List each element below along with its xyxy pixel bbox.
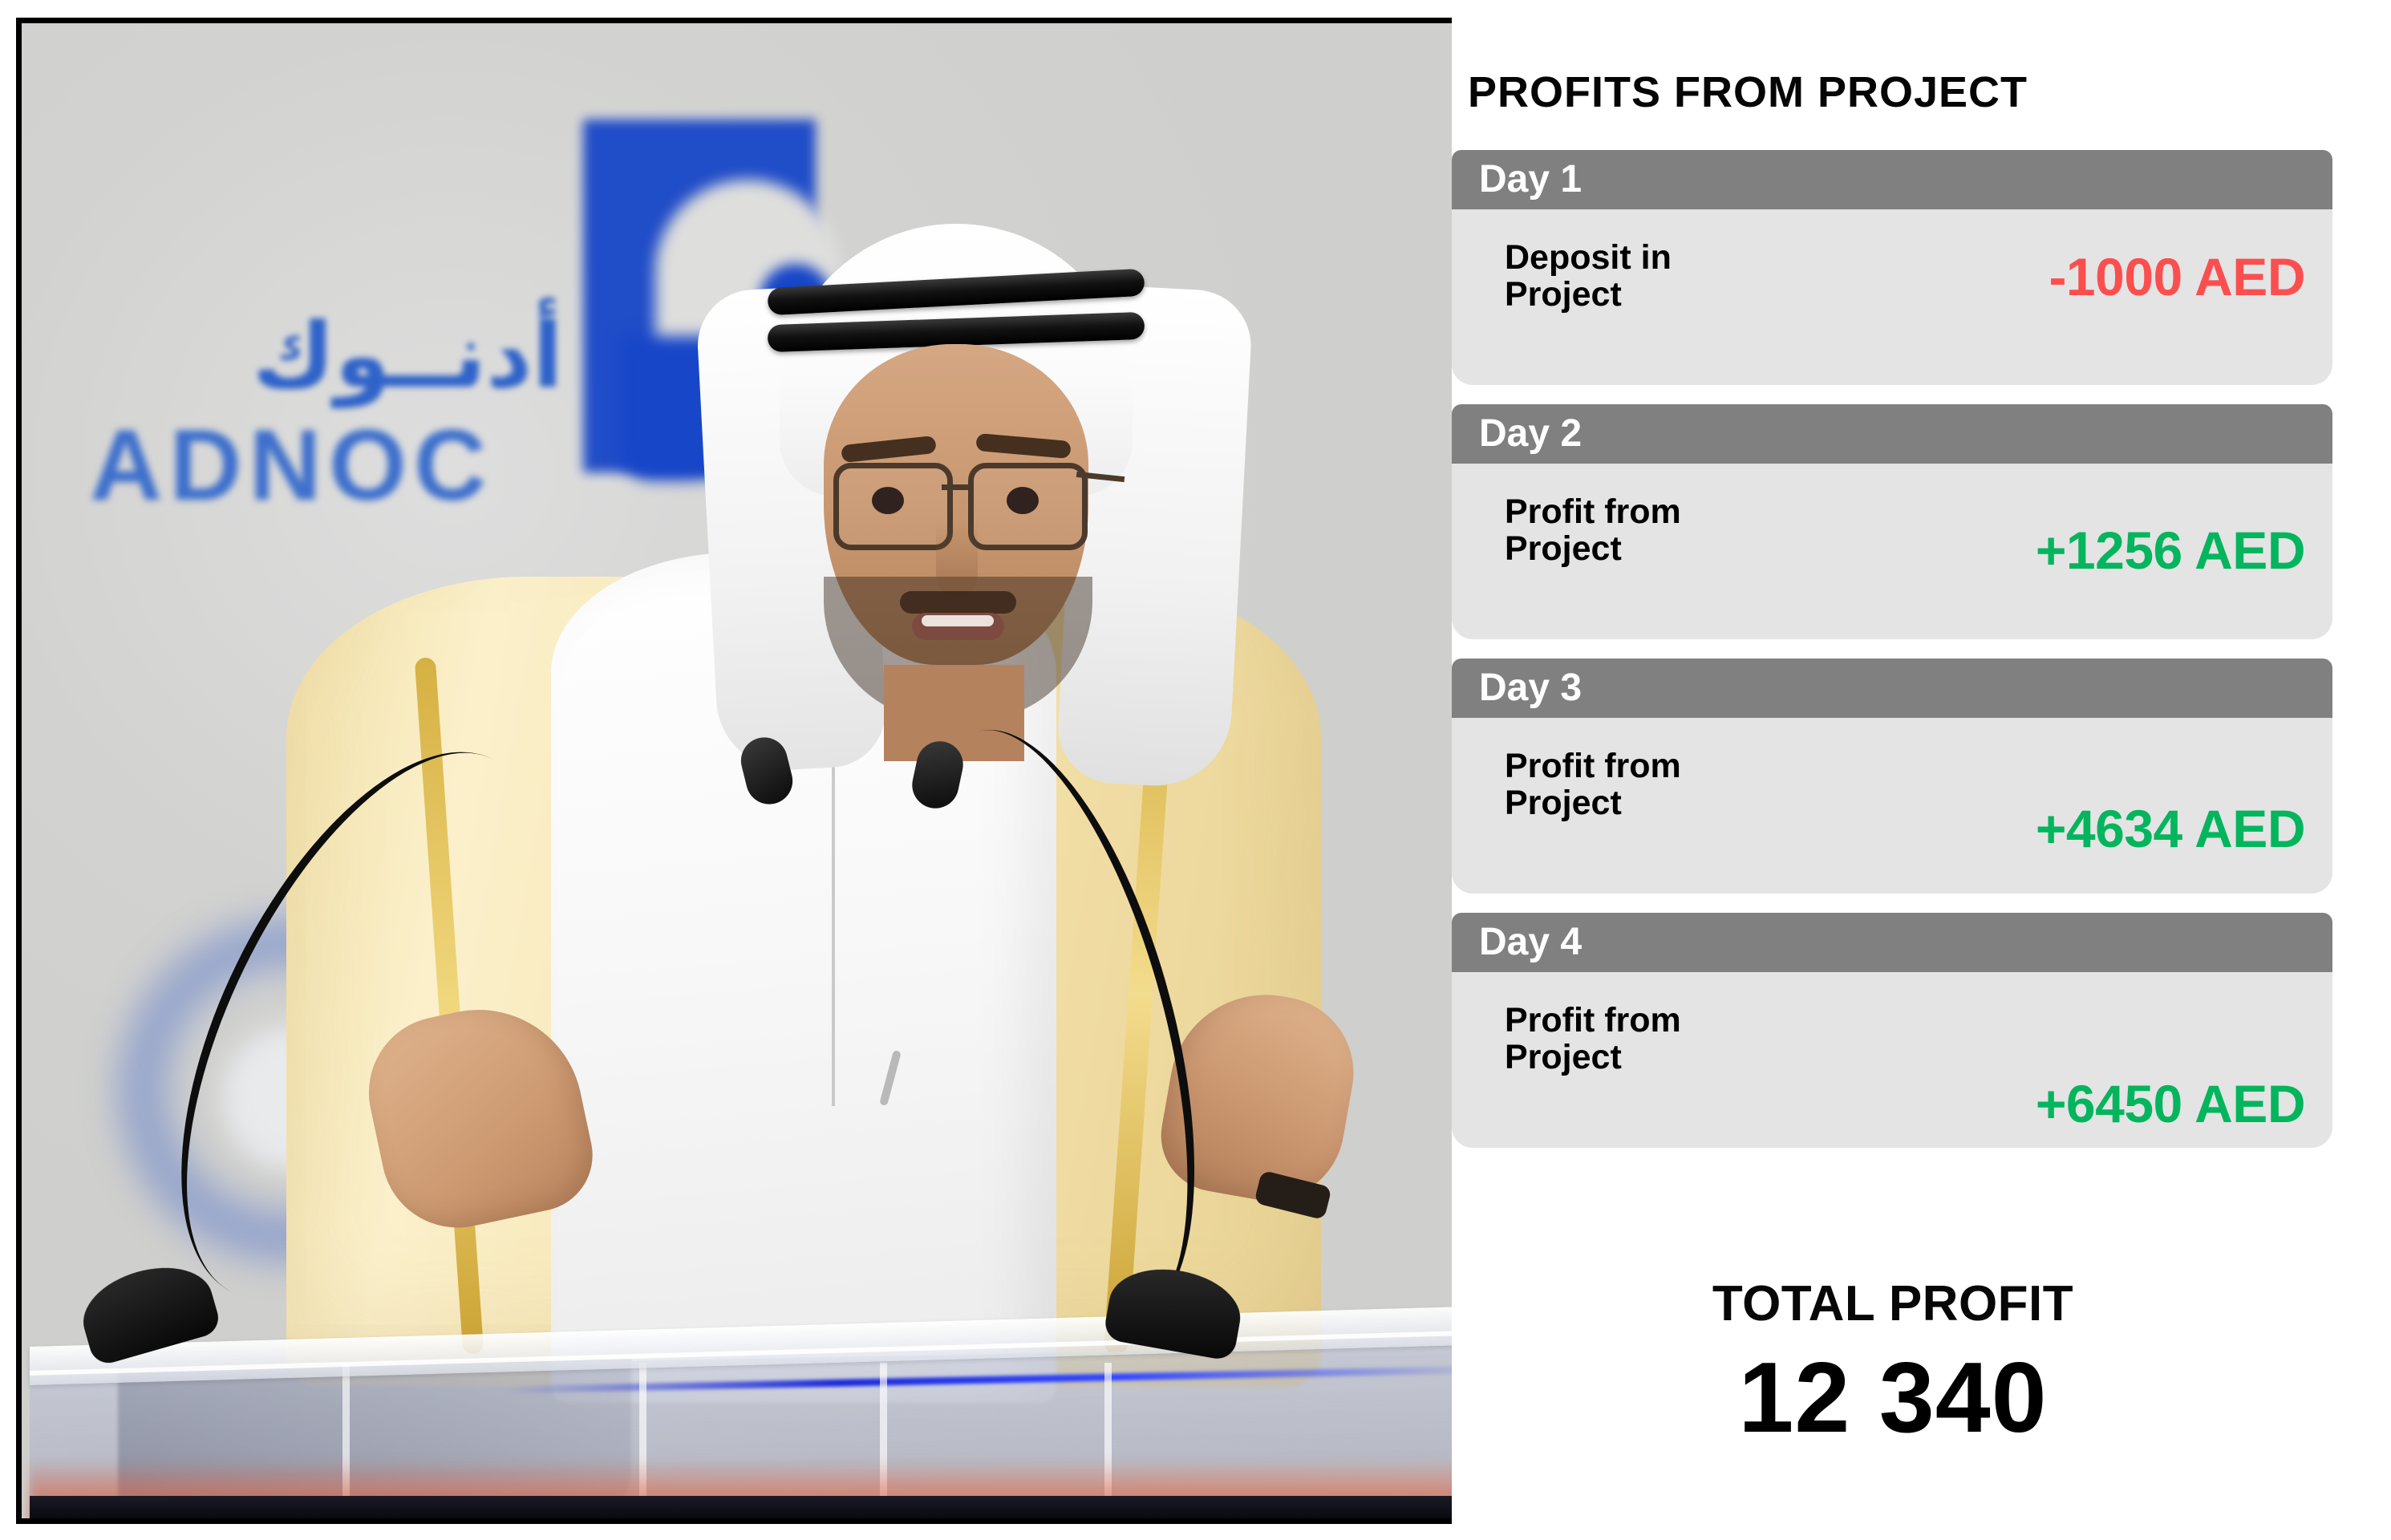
day-card-header: Day 4 (1452, 913, 2332, 972)
day-card[interactable]: Day 2 Profit from Project +1256 AED (1452, 404, 2332, 639)
day-description: Profit from Project (1505, 1003, 1850, 1076)
day-card-header: Day 3 (1452, 659, 2332, 718)
day-label: Day 4 (1479, 923, 1582, 962)
day-amount: +1256 AED (2036, 520, 2305, 581)
speaker-teeth (922, 615, 994, 626)
day-label: Day 1 (1479, 160, 1582, 199)
speaker-photo: أدنــوك ADNOC (22, 23, 1454, 1518)
day-card[interactable]: Day 4 Profit from Project +6450 AED (1452, 913, 2332, 1148)
glasses-lens-left-icon (833, 463, 953, 550)
day-card[interactable]: Day 1 Deposit in Project -1000 AED (1452, 150, 2332, 385)
stage-floor-base (30, 1496, 1454, 1518)
profits-panel: PROFITS FROM PROJECT Day 1 Deposit in Pr… (1452, 0, 2391, 1540)
day-description: Profit from Project (1505, 494, 1850, 567)
day-card-header: Day 1 (1452, 150, 2332, 209)
day-card-body: Profit from Project +1256 AED (1452, 464, 2332, 639)
panel-title: PROFITS FROM PROJECT (1468, 67, 2028, 117)
day-description: Deposit in Project (1505, 240, 1850, 313)
day-card-body: Profit from Project +6450 AED (1452, 972, 2332, 1148)
total-profit-block: TOTAL PROFIT 12 340 (1452, 1277, 2334, 1450)
total-profit-value: 12 340 (1452, 1346, 2334, 1450)
day-card-body: Profit from Project +4634 AED (1452, 718, 2332, 894)
day-cards-list: Day 1 Deposit in Project -1000 AED Day 2… (1452, 150, 2334, 1167)
day-card-header: Day 2 (1452, 404, 2332, 464)
day-card-body: Deposit in Project -1000 AED (1452, 209, 2332, 385)
glasses-lens-right-icon (968, 463, 1088, 550)
day-card[interactable]: Day 3 Profit from Project +4634 AED (1452, 659, 2332, 894)
glasses-bridge-icon (942, 484, 968, 490)
speaker-nose (936, 521, 978, 597)
day-amount: +4634 AED (2036, 798, 2305, 859)
day-amount: +6450 AED (2036, 1073, 2305, 1134)
speaker-photo-frame: أدنــوك ADNOC (16, 18, 1460, 1524)
total-profit-label: TOTAL PROFIT (1452, 1277, 2334, 1331)
speaker-moustache (900, 591, 1016, 614)
day-label: Day 3 (1479, 669, 1582, 707)
day-label: Day 2 (1479, 415, 1582, 453)
day-description: Profit from Project (1505, 748, 1850, 821)
day-amount: -1000 AED (2049, 246, 2305, 307)
